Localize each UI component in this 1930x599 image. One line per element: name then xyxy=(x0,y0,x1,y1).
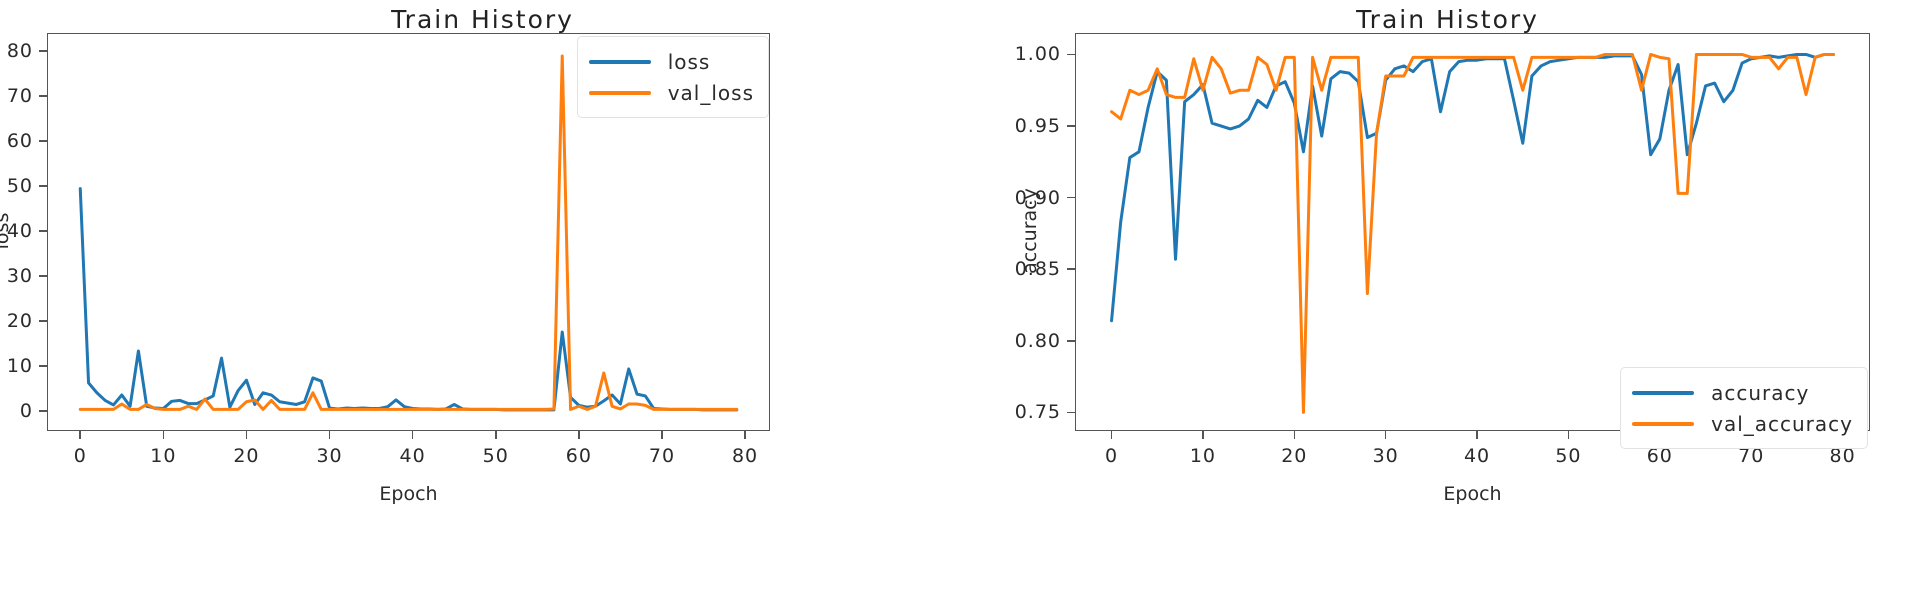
y-tick-mark xyxy=(39,140,47,142)
x-tick-mark xyxy=(1111,431,1113,439)
series-line-accuracy xyxy=(1112,54,1834,320)
y-tick-label: 80 xyxy=(7,40,33,62)
y-tick-label: 0.80 xyxy=(1015,330,1061,352)
legend-item[interactable]: loss xyxy=(589,46,754,77)
y-tick-label: 60 xyxy=(7,130,33,152)
x-tick-label: 50 xyxy=(1555,445,1581,467)
loss-y-axis-label: loss xyxy=(0,171,13,291)
y-tick-mark xyxy=(39,185,47,187)
series-line-val_accuracy xyxy=(1112,54,1834,412)
y-tick-mark xyxy=(1067,54,1075,56)
y-tick-mark xyxy=(39,275,47,277)
x-tick-mark xyxy=(163,431,165,439)
x-tick-mark xyxy=(1568,431,1570,439)
loss-x-axis-label: Epoch xyxy=(47,483,770,505)
x-tick-label: 60 xyxy=(566,445,592,467)
x-tick-label: 30 xyxy=(316,445,342,467)
legend-color-swatch xyxy=(589,91,651,95)
legend-item[interactable]: val_accuracy xyxy=(1632,408,1853,439)
y-tick-mark xyxy=(39,320,47,322)
y-tick-label: 10 xyxy=(7,355,33,377)
accuracy-legend[interactable]: accuracyval_accuracy xyxy=(1620,367,1868,449)
x-tick-mark xyxy=(79,431,81,439)
x-tick-mark xyxy=(495,431,497,439)
legend-color-swatch xyxy=(1632,391,1694,395)
train-history-figure: Train History 01020304050607080010203040… xyxy=(0,0,1930,599)
y-tick-mark xyxy=(39,410,47,412)
legend-label: val_accuracy xyxy=(1711,412,1853,436)
legend-item[interactable]: accuracy xyxy=(1632,377,1853,408)
x-tick-mark xyxy=(246,431,248,439)
loss-panel: Train History 01020304050607080010203040… xyxy=(0,0,965,599)
y-tick-label: 20 xyxy=(7,310,33,332)
loss-series-canvas xyxy=(0,0,965,599)
series-line-loss xyxy=(80,189,737,410)
x-tick-mark xyxy=(1385,431,1387,439)
x-tick-label: 10 xyxy=(1190,445,1216,467)
y-tick-mark xyxy=(39,230,47,232)
y-tick-mark xyxy=(1067,197,1075,199)
x-tick-label: 40 xyxy=(400,445,426,467)
x-tick-label: 40 xyxy=(1464,445,1490,467)
x-tick-mark xyxy=(744,431,746,439)
x-tick-mark xyxy=(578,431,580,439)
legend-color-swatch xyxy=(589,60,651,64)
y-tick-label: 0.75 xyxy=(1015,401,1061,423)
x-tick-mark xyxy=(329,431,331,439)
legend-label: loss xyxy=(668,50,711,74)
x-tick-mark xyxy=(661,431,663,439)
x-tick-label: 20 xyxy=(1281,445,1307,467)
legend-label: accuracy xyxy=(1711,381,1809,405)
x-tick-label: 80 xyxy=(732,445,758,467)
legend-item[interactable]: val_loss xyxy=(589,77,754,108)
y-tick-mark xyxy=(39,365,47,367)
y-tick-label: 0 xyxy=(20,400,33,422)
y-tick-mark xyxy=(1067,412,1075,414)
x-tick-label: 20 xyxy=(233,445,259,467)
y-tick-mark xyxy=(1067,125,1075,127)
y-tick-label: 1.00 xyxy=(1015,43,1061,65)
y-tick-mark xyxy=(39,95,47,97)
y-tick-label: 0.95 xyxy=(1015,115,1061,137)
legend-color-swatch xyxy=(1632,422,1694,426)
x-tick-label: 50 xyxy=(483,445,509,467)
y-tick-mark xyxy=(1067,340,1075,342)
y-tick-mark xyxy=(1067,268,1075,270)
x-tick-label: 10 xyxy=(150,445,176,467)
accuracy-y-axis-label: accuracy xyxy=(1019,171,1041,291)
x-tick-label: 30 xyxy=(1373,445,1399,467)
x-tick-label: 0 xyxy=(1105,445,1118,467)
legend-label: val_loss xyxy=(668,81,754,105)
x-tick-label: 70 xyxy=(649,445,675,467)
accuracy-x-axis-label: Epoch xyxy=(1075,483,1870,505)
x-tick-label: 0 xyxy=(74,445,87,467)
x-tick-mark xyxy=(412,431,414,439)
loss-legend[interactable]: lossval_loss xyxy=(577,36,769,118)
y-tick-mark xyxy=(39,50,47,52)
accuracy-series-canvas xyxy=(965,0,1930,599)
x-tick-mark xyxy=(1476,431,1478,439)
x-tick-mark xyxy=(1294,431,1296,439)
y-tick-label: 70 xyxy=(7,85,33,107)
x-tick-mark xyxy=(1202,431,1204,439)
accuracy-panel: Train History 0.750.800.850.900.951.0001… xyxy=(965,0,1930,599)
